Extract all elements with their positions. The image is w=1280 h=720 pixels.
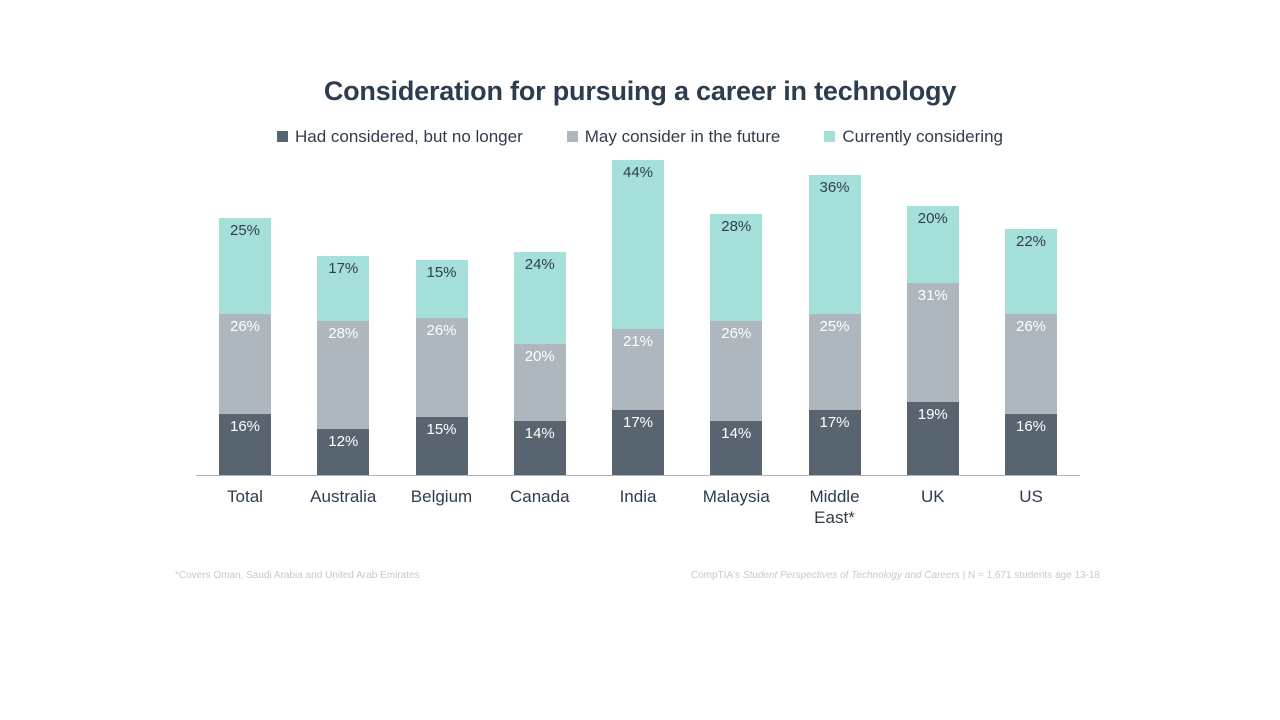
- footnote-source: CompTIA's Student Perspectives of Techno…: [691, 570, 1100, 581]
- bar-value-label: 36%: [819, 180, 849, 197]
- legend-swatch-icon: [567, 131, 578, 142]
- source-prefix: CompTIA's: [691, 570, 743, 581]
- bar-value-label: 24%: [525, 257, 555, 274]
- bar-segment[interactable]: 19%: [907, 402, 959, 475]
- x-axis-label: MiddleEast*: [786, 486, 884, 529]
- bar-segment[interactable]: 16%: [1005, 414, 1057, 475]
- bar-value-label: 28%: [721, 219, 751, 236]
- bar-value-label: 26%: [230, 319, 260, 336]
- bar-value-label: 12%: [328, 434, 358, 451]
- bar-value-label: 20%: [525, 349, 555, 366]
- legend-item-label: Currently considering: [842, 128, 1003, 145]
- bar-value-label: 26%: [426, 323, 456, 340]
- bar-segment[interactable]: 44%: [612, 160, 664, 329]
- bar-group: 20%31%19%: [884, 160, 982, 475]
- bar-group: 22%26%16%: [982, 160, 1080, 475]
- bar-group: 36%25%17%: [786, 160, 884, 475]
- x-axis-label: Malaysia: [687, 486, 785, 529]
- bar-segment[interactable]: 14%: [514, 421, 566, 475]
- legend-swatch-icon: [824, 131, 835, 142]
- bar-value-label: 14%: [721, 426, 751, 443]
- x-axis-label: Total: [196, 486, 294, 529]
- bar-group: 24%20%14%: [491, 160, 589, 475]
- bar-value-label: 16%: [1016, 419, 1046, 436]
- bar-segment[interactable]: 26%: [710, 321, 762, 421]
- stacked-bar[interactable]: 24%20%14%: [514, 252, 566, 475]
- bar-value-label: 15%: [426, 265, 456, 282]
- legend-swatch-icon: [277, 131, 288, 142]
- bar-segment[interactable]: 25%: [219, 218, 271, 314]
- bar-segment[interactable]: 25%: [809, 314, 861, 410]
- bar-value-label: 22%: [1016, 234, 1046, 251]
- bar-value-label: 17%: [819, 415, 849, 432]
- bar-value-label: 19%: [918, 407, 948, 424]
- stacked-bar[interactable]: 25%26%16%: [219, 218, 271, 475]
- chart-slide: Consideration for pursuing a career in t…: [0, 0, 1280, 720]
- stacked-bar[interactable]: 20%31%19%: [907, 206, 959, 475]
- x-axis-label: Australia: [294, 486, 392, 529]
- bar-value-label: 20%: [918, 211, 948, 228]
- x-axis-label: India: [589, 486, 687, 529]
- legend-item-currently-considering[interactable]: Currently considering: [824, 128, 1003, 145]
- bar-segment[interactable]: 16%: [219, 414, 271, 475]
- x-axis-line: [196, 475, 1080, 476]
- bar-segment[interactable]: 20%: [907, 206, 959, 283]
- bar-value-label: 26%: [721, 326, 751, 343]
- bar-value-label: 16%: [230, 419, 260, 436]
- bar-segment[interactable]: 36%: [809, 175, 861, 313]
- bar-segment[interactable]: 28%: [710, 214, 762, 322]
- legend-item-had-considered[interactable]: Had considered, but no longer: [277, 128, 523, 145]
- bar-value-label: 21%: [623, 334, 653, 351]
- stacked-bar[interactable]: 22%26%16%: [1005, 229, 1057, 475]
- bar-value-label: 44%: [623, 165, 653, 182]
- x-axis-category-labels: TotalAustraliaBelgiumCanadaIndiaMalaysia…: [196, 486, 1080, 529]
- stacked-bar[interactable]: 44%21%17%: [612, 160, 664, 475]
- stacked-bar[interactable]: 28%26%14%: [710, 214, 762, 475]
- source-title: Student Perspectives of Technology and C…: [743, 570, 960, 581]
- x-axis-label: Belgium: [393, 486, 491, 529]
- stacked-bar[interactable]: 17%28%12%: [317, 256, 369, 475]
- bar-group: 25%26%16%: [196, 160, 294, 475]
- stacked-bar[interactable]: 15%26%15%: [416, 260, 468, 475]
- bar-value-label: 14%: [525, 426, 555, 443]
- chart-title: Consideration for pursuing a career in t…: [0, 76, 1280, 107]
- bar-segment[interactable]: 26%: [219, 314, 271, 414]
- bar-value-label: 17%: [623, 415, 653, 432]
- legend-item-label: Had considered, but no longer: [295, 128, 523, 145]
- bar-value-label: 26%: [1016, 319, 1046, 336]
- bar-value-label: 17%: [328, 261, 358, 278]
- bar-value-label: 15%: [426, 422, 456, 439]
- bar-segment[interactable]: 17%: [809, 410, 861, 475]
- bar-segment[interactable]: 17%: [317, 256, 369, 321]
- chart-legend: Had considered, but no longer May consid…: [0, 128, 1280, 145]
- bar-segment[interactable]: 21%: [612, 329, 664, 410]
- bar-segment[interactable]: 20%: [514, 344, 566, 421]
- bar-series-container: 25%26%16%17%28%12%15%26%15%24%20%14%44%2…: [196, 160, 1080, 475]
- x-axis-label: Canada: [491, 486, 589, 529]
- bar-group: 15%26%15%: [393, 160, 491, 475]
- bar-value-label: 25%: [819, 319, 849, 336]
- bar-segment[interactable]: 26%: [416, 318, 468, 418]
- bar-segment[interactable]: 15%: [416, 260, 468, 318]
- bar-value-label: 25%: [230, 223, 260, 240]
- bar-segment[interactable]: 17%: [612, 410, 664, 475]
- legend-item-may-consider[interactable]: May consider in the future: [567, 128, 781, 145]
- x-axis-label: UK: [884, 486, 982, 529]
- x-axis-label: US: [982, 486, 1080, 529]
- legend-item-label: May consider in the future: [585, 128, 781, 145]
- bar-segment[interactable]: 22%: [1005, 229, 1057, 314]
- bar-segment[interactable]: 24%: [514, 252, 566, 344]
- bar-segment[interactable]: 15%: [416, 417, 468, 475]
- bar-segment[interactable]: 28%: [317, 321, 369, 429]
- source-suffix: | N = 1,671 students age 13-18: [960, 570, 1100, 581]
- bar-group: 28%26%14%: [687, 160, 785, 475]
- bar-group: 44%21%17%: [589, 160, 687, 475]
- bar-segment[interactable]: 26%: [1005, 314, 1057, 414]
- plot-area: 25%26%16%17%28%12%15%26%15%24%20%14%44%2…: [196, 160, 1080, 475]
- bar-segment[interactable]: 14%: [710, 421, 762, 475]
- bar-value-label: 31%: [918, 288, 948, 305]
- bar-segment[interactable]: 31%: [907, 283, 959, 402]
- footnote-left: *Covers Oman, Saudi Arabia and United Ar…: [175, 570, 420, 581]
- stacked-bar[interactable]: 36%25%17%: [809, 175, 861, 475]
- bar-value-label: 28%: [328, 326, 358, 343]
- bar-segment[interactable]: 12%: [317, 429, 369, 475]
- bar-group: 17%28%12%: [294, 160, 392, 475]
